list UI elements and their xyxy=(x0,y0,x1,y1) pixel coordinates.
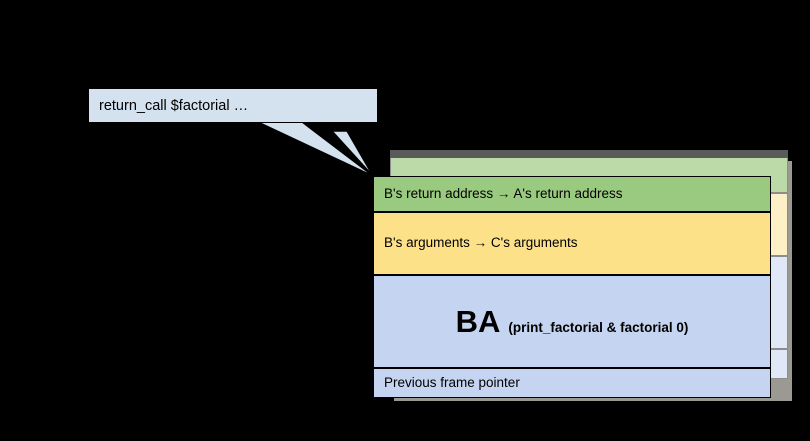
stack-row-return-address: B's return address → A's return address xyxy=(373,176,771,212)
stack-frame: B's return address → A's return address … xyxy=(373,176,771,398)
stack-top-bar xyxy=(390,150,788,158)
stack-row-frame-pointer-label: Previous frame pointer xyxy=(384,375,520,391)
stack-row-locals-label: BA xyxy=(456,304,501,340)
stack-row-locals-content: BA (print_factorial & factorial 0) xyxy=(456,304,689,340)
callout-box: return_call $factorial … xyxy=(88,88,378,123)
diagram-canvas: B's return address → A's return address … xyxy=(0,0,810,441)
stack-row-arguments-label: B's arguments → C's arguments xyxy=(384,235,577,251)
stack-row-frame-pointer: Previous frame pointer xyxy=(373,368,771,398)
stack-row-locals-sublabel: (print_factorial & factorial 0) xyxy=(508,320,688,335)
stack-row-locals: BA (print_factorial & factorial 0) xyxy=(373,275,771,368)
stack-row-return-address-label: B's return address → A's return address xyxy=(384,186,623,202)
callout-text: return_call $factorial … xyxy=(99,98,248,114)
stack-row-arguments: B's arguments → C's arguments xyxy=(373,212,771,275)
